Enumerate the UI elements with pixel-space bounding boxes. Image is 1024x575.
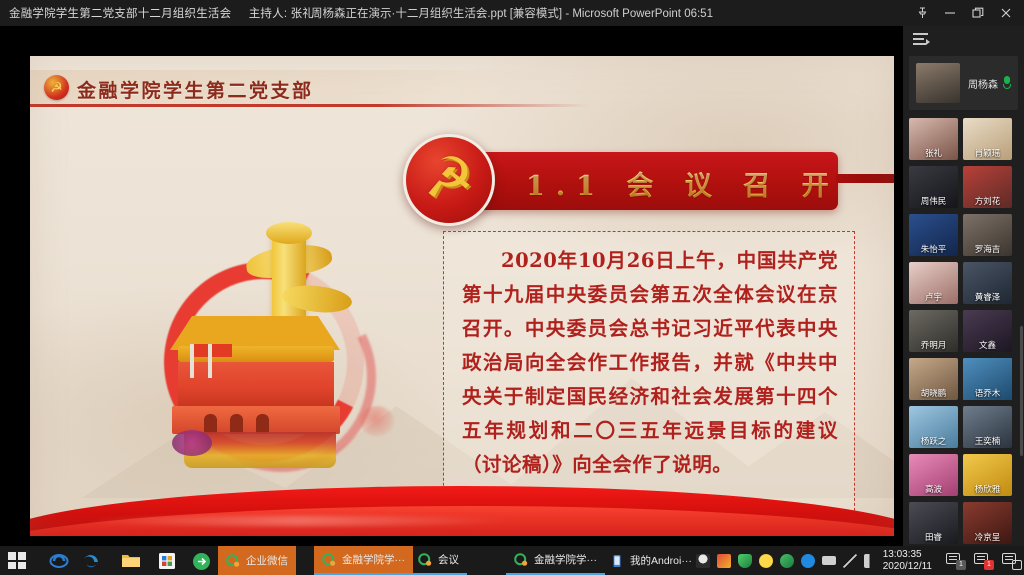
participant-name: 冷京呈 (963, 531, 1012, 543)
active-speaker-tile[interactable]: 周杨森 (909, 56, 1018, 110)
participants-panel-header (903, 26, 1024, 52)
microsoft-store-icon[interactable] (156, 550, 178, 572)
microsoft-edge-icon[interactable] (80, 550, 102, 572)
flower-bed-purple (172, 430, 212, 456)
taskbar-clock[interactable]: 13:03:35 2020/12/11 (883, 549, 932, 573)
section-title-text: 1.1 会 议 召 开 (526, 164, 840, 203)
participant-tile[interactable]: 高波 (909, 454, 958, 496)
gate-arch-2 (230, 414, 243, 434)
participant-tile[interactable]: 田睿 (909, 502, 958, 544)
taskbar-task[interactable]: 企业微信 (218, 546, 296, 575)
participant-tile[interactable]: 胡晓鹏 (909, 358, 958, 400)
chat-list-badge: 1 (984, 560, 994, 570)
participant-name: 语乔木 (963, 387, 1012, 399)
chat-list-icon[interactable]: 1 (974, 553, 992, 568)
keyboard-icon[interactable] (822, 556, 836, 565)
slide-canvas: ☭ 金融学院学生第二党支部 1.1 会 议 召 开 ☭ (30, 56, 894, 536)
red-ribbon-footer (30, 478, 894, 536)
participant-name: 田睿 (909, 531, 958, 543)
system-tray[interactable] (696, 546, 878, 575)
red-flag-2 (208, 344, 212, 378)
shield-red-icon[interactable] (717, 554, 731, 568)
window-titlebar: 金融学院学生第二党支部十二月组织生活会 主持人: 张礼 周杨森正在演示·十二月组… (0, 0, 1024, 26)
gate-arch-1 (204, 414, 217, 434)
security-shield-icon[interactable] (738, 554, 752, 568)
tiananmen-illustration (142, 224, 442, 486)
participant-tile[interactable]: 文鑫 (963, 310, 1012, 352)
participant-name: 卢宇 (909, 291, 958, 303)
wecom-icon (514, 553, 528, 567)
participant-tile[interactable]: 杨跃之 (909, 406, 958, 448)
party-emblem-icon: ☭ (403, 134, 495, 226)
gate-arch-3 (256, 414, 269, 434)
wecom-tray-icon[interactable] (780, 554, 794, 568)
participant-name: 方刘花 (963, 195, 1012, 207)
chat-bubble-icon[interactable]: 1 (946, 553, 964, 568)
participant-name: 文鑫 (963, 339, 1012, 351)
participant-tile[interactable]: 乔明月 (909, 310, 958, 352)
participant-list-icon[interactable] (913, 33, 931, 45)
file-explorer-icon[interactable] (120, 550, 142, 572)
wifi-icon[interactable] (843, 554, 857, 568)
participant-tile[interactable]: 罗海吉 (963, 214, 1012, 256)
taskbar-task[interactable]: 金融学院学··· (314, 546, 413, 575)
wecom-green-icon[interactable] (190, 550, 212, 572)
participant-name: 张礼 (909, 147, 958, 159)
windows-start-icon[interactable] (8, 552, 26, 569)
participant-name: 高波 (909, 483, 958, 495)
participant-name: 周伟民 (909, 195, 958, 207)
participant-tile[interactable]: 周伟民 (909, 166, 958, 208)
participant-tile[interactable]: 张礼 (909, 118, 958, 160)
taskbar-task-label: 我的Androi··· (630, 553, 692, 568)
section-title-banner: 1.1 会 议 召 开 (468, 152, 838, 210)
participants-scrollbar[interactable] (1020, 326, 1023, 456)
participant-name: 杨欣雅 (963, 483, 1012, 495)
windows-taskbar: 13:03:35 2020/12/11 1 1 企业微信金融学院学···会议金融… (0, 546, 1024, 575)
ink-dot (360, 406, 394, 436)
restore-icon[interactable] (964, 1, 992, 25)
taskbar-task[interactable]: 会议 (410, 546, 467, 575)
participant-name: 王奕楠 (963, 435, 1012, 447)
participant-tile[interactable]: 卢宇 (909, 262, 958, 304)
active-speaker-name: 周杨森 (968, 76, 998, 91)
minimize-icon[interactable] (936, 1, 964, 25)
presentation-stage[interactable]: ☭ 金融学院学生第二党支部 1.1 会 议 召 开 ☭ (0, 26, 903, 546)
participant-name: 肖颖瑶 (963, 147, 1012, 159)
taskbar-task[interactable]: 金融学院学··· (506, 546, 605, 575)
close-icon[interactable] (992, 1, 1020, 25)
participant-name: 乔明月 (909, 339, 958, 351)
participant-name: 胡晓鹏 (909, 387, 958, 399)
participant-tile[interactable]: 冷京呈 (963, 502, 1012, 544)
screen: 金融学院学生第二党支部十二月组织生活会 主持人: 张礼 周杨森正在演示·十二月组… (0, 0, 1024, 575)
banner-tail (836, 174, 894, 183)
participant-tile[interactable]: 王奕楠 (963, 406, 1012, 448)
update-icon[interactable] (759, 554, 773, 568)
participant-name: 朱怡平 (909, 243, 958, 255)
wecom-icon (226, 554, 240, 568)
gate-body (178, 362, 334, 406)
taskbar-task-label: 会议 (438, 552, 459, 567)
slide-org-header: 金融学院学生第二党支部 (77, 76, 314, 103)
slide-body-text: 2020年10月26日上午，中国共产党第十九届中央委员会第五次全体会议在京召开。… (462, 244, 838, 482)
participant-tile[interactable]: 黄睿泽 (963, 262, 1012, 304)
participant-tile[interactable]: 朱怡平 (909, 214, 958, 256)
internet-explorer-icon[interactable] (48, 550, 70, 572)
taskbar-task[interactable]: 我的Androi··· (602, 546, 700, 575)
bluetooth-icon[interactable] (801, 554, 815, 568)
participant-tile[interactable]: 语乔木 (963, 358, 1012, 400)
participant-name: 杨跃之 (909, 435, 958, 447)
participant-tile[interactable]: 方刘花 (963, 166, 1012, 208)
phone-icon (610, 554, 624, 568)
mic-on-icon (1003, 76, 1011, 89)
taskbar-task-label: 金融学院学··· (342, 552, 405, 567)
participant-tile[interactable]: 肖颖瑶 (963, 118, 1012, 160)
wecom-icon (322, 553, 336, 567)
party-emblem-small-icon: ☭ (44, 75, 69, 100)
participant-name: 罗海吉 (963, 243, 1012, 255)
participants-panel: 周杨森 张礼肖颖瑶周伟民方刘花朱怡平罗海吉卢宇黄睿泽乔明月文鑫胡晓鹏语乔木杨跃之… (903, 26, 1024, 546)
notification-icons[interactable]: 1 1 (946, 546, 1020, 575)
chat-badge: 1 (956, 560, 966, 570)
clock-date: 2020/12/11 (883, 561, 932, 573)
window-title: 周杨森正在演示·十二月组织生活会.ppt [兼容模式] - Microsoft … (0, 5, 1024, 21)
taskbar-task-label: 企业微信 (246, 553, 288, 568)
taskbar-task-label: 金融学院学··· (534, 552, 597, 567)
participants-grid[interactable]: 张礼肖颖瑶周伟民方刘花朱怡平罗海吉卢宇黄睿泽乔明月文鑫胡晓鹏语乔木杨跃之王奕楠高… (909, 118, 1021, 546)
clock-time: 13:03:35 (883, 549, 932, 561)
huabiao-cap (266, 222, 312, 244)
volume-icon[interactable] (864, 554, 878, 568)
red-flag-1 (190, 344, 194, 378)
avatar (916, 63, 960, 103)
window-controls (908, 0, 1020, 26)
action-center-icon[interactable] (1002, 553, 1020, 568)
pin-icon[interactable] (908, 1, 936, 25)
participant-tile[interactable]: 杨欣雅 (963, 454, 1012, 496)
wecom-icon (418, 553, 432, 567)
slide-header-rule (30, 104, 590, 107)
participant-name: 黄睿泽 (963, 291, 1012, 303)
